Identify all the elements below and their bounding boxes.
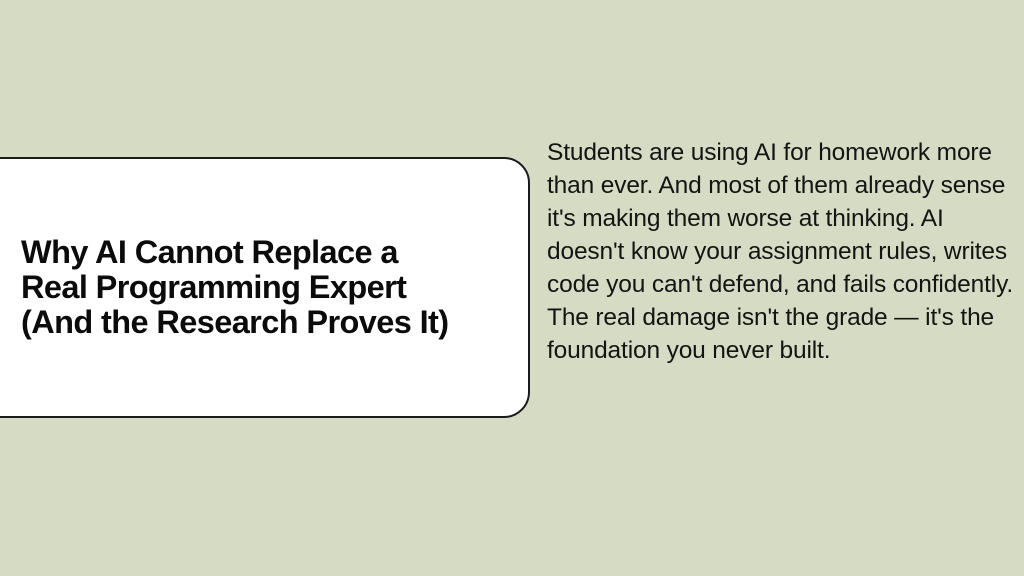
body-paragraph: Students are using AI for homework more … bbox=[547, 136, 1013, 367]
slide-canvas: Why AI Cannot Replace a Real Programming… bbox=[0, 0, 1024, 576]
title-card: Why AI Cannot Replace a Real Programming… bbox=[0, 157, 530, 418]
body-text-block: Students are using AI for homework more … bbox=[547, 136, 1013, 367]
page-title: Why AI Cannot Replace a Real Programming… bbox=[0, 235, 451, 340]
